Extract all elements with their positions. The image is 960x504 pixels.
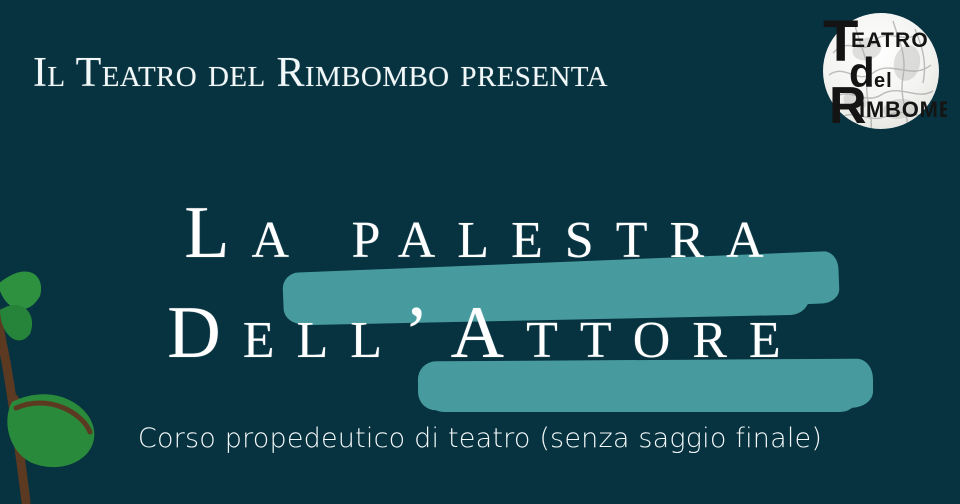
poster-canvas: Il Teatro del Rimbombo presenta <box>0 0 960 504</box>
title-line-2: Dell’Attore <box>0 296 954 370</box>
course-subtitle: Corso propedeutico di teatro (senza sagg… <box>0 423 960 454</box>
title-block: La palestra Dell’Attore <box>0 188 960 423</box>
title-line-1: La palestra <box>0 196 954 270</box>
teatro-del-rimbombo-logo-icon: T EATRO d el R IMBOMBO <box>815 5 947 137</box>
logo-word-rimbombo: IMBOMBO <box>859 97 947 122</box>
logo-word-el: el <box>874 70 893 92</box>
header-presenter-line: Il Teatro del Rimbombo presenta <box>33 47 793 99</box>
presenter-text: Il Teatro del Rimbombo presenta <box>33 52 608 94</box>
